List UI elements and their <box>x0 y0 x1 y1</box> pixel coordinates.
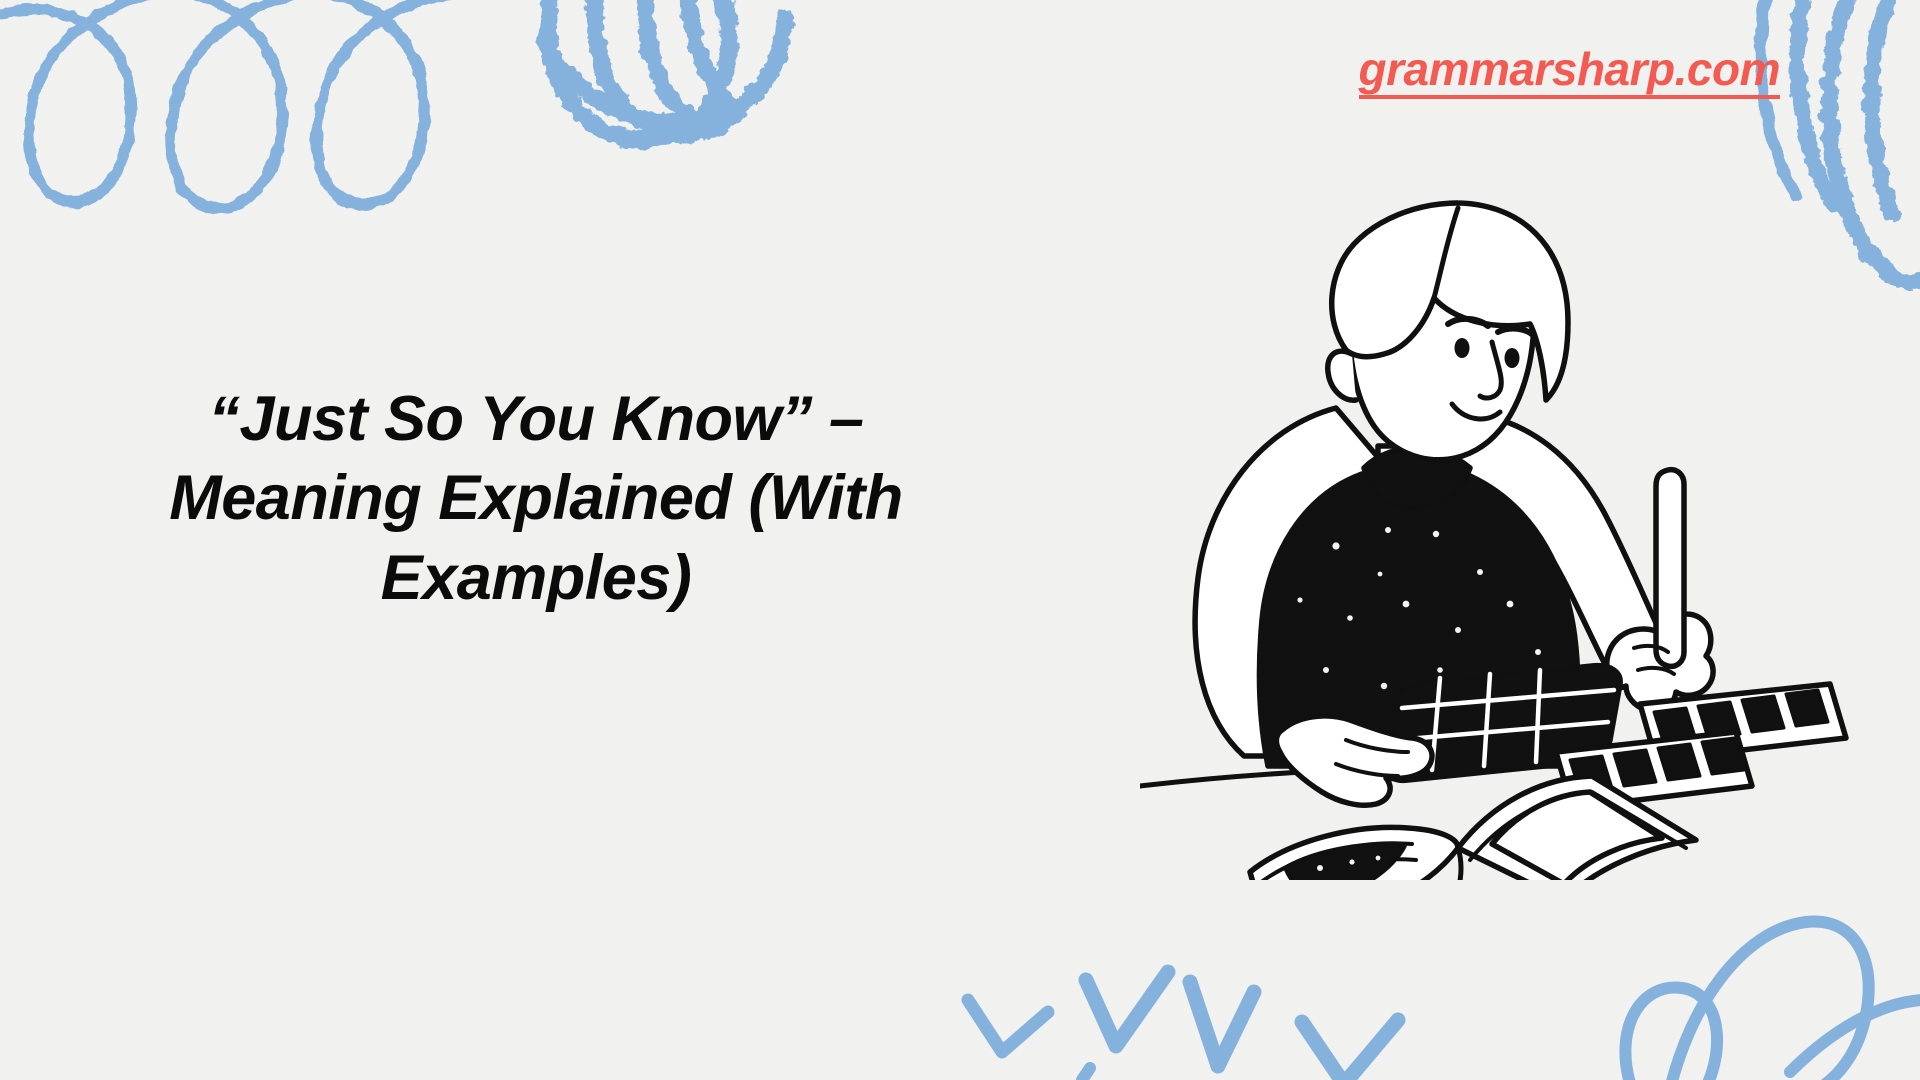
watermark-text: grammarsharp.com <box>1359 45 1781 99</box>
ear <box>1328 351 1356 400</box>
headline-line-1: “Just So You Know” – <box>96 380 976 459</box>
scribble-blob-top-center-icon <box>544 0 784 140</box>
check-marks-bottom-center-icon <box>968 972 1398 1080</box>
headline-line-3: Examples) <box>96 539 976 618</box>
hero-illustration <box>1140 200 1860 880</box>
headline-line-2: Meaning Explained (With <box>96 459 976 538</box>
page-title: “Just So You Know” – Meaning Explained (… <box>96 380 976 618</box>
site-watermark: grammarsharp.com <box>1140 42 1780 99</box>
poster-canvas: grammarsharp.com “Just So You Know” – Me… <box>0 0 1920 1080</box>
person-at-desk-illustration <box>1140 200 1860 880</box>
open-magazine-spine <box>1458 848 1461 880</box>
loop-scribble-top-left-icon <box>0 0 462 208</box>
pen <box>1656 470 1684 667</box>
cursive-loops-bottom-right-icon <box>1625 922 1920 1080</box>
